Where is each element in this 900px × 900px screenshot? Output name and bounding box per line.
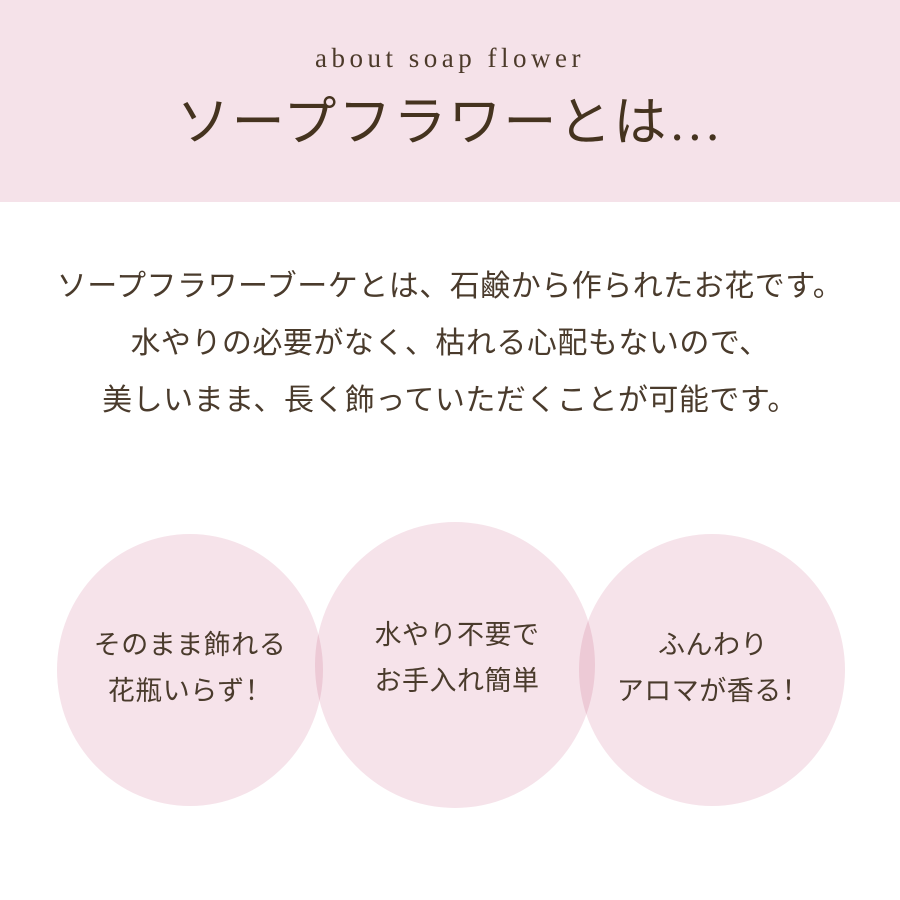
feature-label-vase-free-line2: 花瓶いらず！ xyxy=(55,668,325,714)
feature-label-vase-free-line1: そのまま飾れる xyxy=(55,622,325,668)
soap-flower-info-panel: about soap flower ソープフラワーとは… ソープフラワーブーケと… xyxy=(0,0,900,900)
feature-label-no-watering-line1: 水やり不要で xyxy=(322,612,592,658)
feature-labels: そのまま飾れる 花瓶いらず！ 水やり不要で お手入れ簡単 ふんわり アロマが香る… xyxy=(0,0,900,900)
feature-label-no-watering-line2: お手入れ簡単 xyxy=(322,658,592,704)
feature-label-no-watering: 水やり不要で お手入れ簡単 xyxy=(322,612,592,704)
feature-label-aroma-line1: ふんわり xyxy=(578,622,848,668)
feature-label-aroma: ふんわり アロマが香る！ xyxy=(578,622,848,714)
feature-label-aroma-line2: アロマが香る！ xyxy=(578,668,848,714)
feature-label-vase-free: そのまま飾れる 花瓶いらず！ xyxy=(55,622,325,714)
